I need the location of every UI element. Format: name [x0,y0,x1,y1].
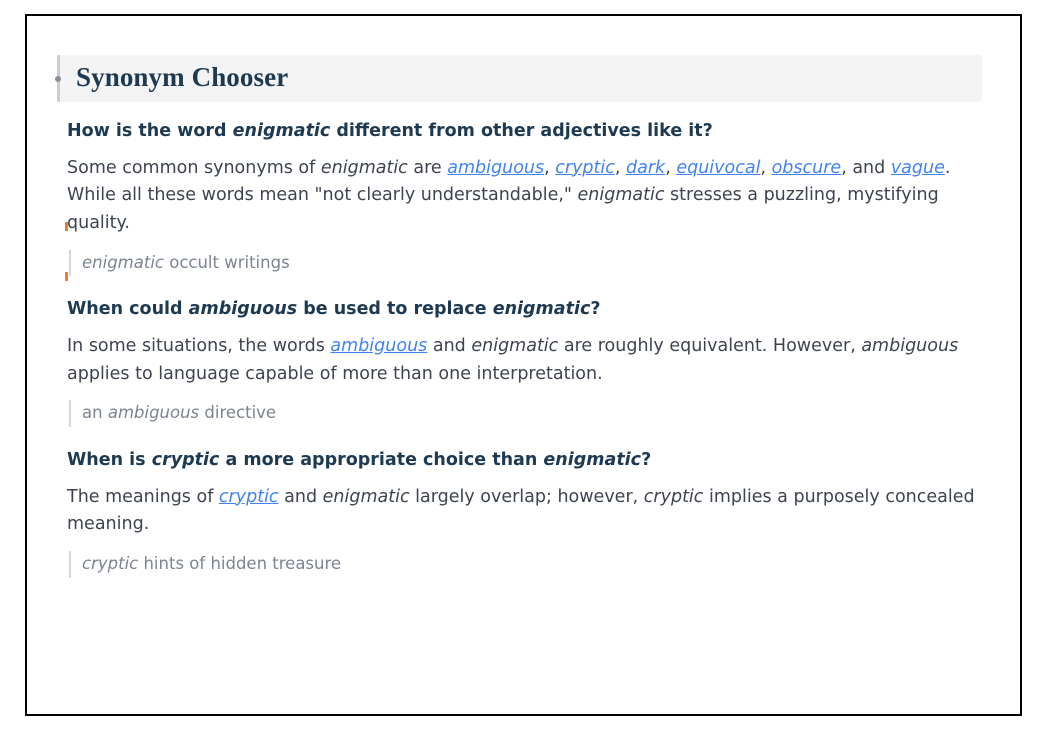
section-question-heading: How is the word enigmatic different from… [67,120,1007,144]
heading-text-before: When is [67,450,152,470]
example-rest: directive [199,403,276,422]
body-headword-1: enigmatic [321,158,408,178]
usage-example: an ambiguous directive [69,400,1007,427]
example-rest: occult writings [164,253,290,272]
comma-sep-2: , [615,158,626,178]
heading-text-before: How is the word [67,121,233,141]
body-text-1: In some situations, the words [67,336,330,356]
synonym-link-vague[interactable]: vague [891,158,945,178]
comma-sep-4: , [760,158,771,178]
example-headword: cryptic [82,554,138,573]
synonym-link-cryptic[interactable]: cryptic [555,158,615,178]
example-headword: ambiguous [108,403,199,422]
section-body-paragraph: Some common synonyms of enigmatic are am… [67,155,987,238]
body-text-2: and [427,336,471,356]
synonym-section: When is cryptic a more appropriate choic… [67,449,1007,578]
body-text-3: largely overlap; however, [410,487,644,507]
body-text-4: applies to language capable of more than… [67,364,603,384]
panel-header: Synonym Chooser [57,55,982,102]
body-emphasis-2: ambiguous [861,336,958,356]
body-text-2: are [408,158,447,178]
example-rest: hints of hidden treasure [138,554,341,573]
example-headword: enigmatic [82,253,164,272]
synonym-link-obscure[interactable]: obscure [772,158,842,178]
body-text-1: Some common synonyms of [67,158,321,178]
body-text-3: , and [841,158,891,178]
body-text-3: are roughly equivalent. However, [558,336,861,356]
section-question-heading: When is cryptic a more appropriate choic… [67,449,1007,473]
heading-headword: enigmatic [233,121,331,141]
body-headword-2: enigmatic [578,185,665,205]
section-question-heading: When could ambiguous be used to replace … [67,298,1007,322]
section-body-paragraph: In some situations, the words ambiguous … [67,333,987,388]
synonym-link-ambiguous[interactable]: ambiguous [330,336,427,356]
heading-text-mid: be used to replace [297,299,493,319]
heading-text-after: different from other adjectives like it? [330,121,712,141]
synonym-link-ambiguous[interactable]: ambiguous [447,158,544,178]
body-text-1: The meanings of [67,487,219,507]
heading-headword-2: enigmatic [543,450,641,470]
heading-headword: ambiguous [189,299,297,319]
section-body-paragraph: The meanings of cryptic and enigmatic la… [67,484,987,539]
usage-example: cryptic hints of hidden treasure [69,551,1007,578]
synonym-link-cryptic[interactable]: cryptic [219,487,279,507]
synonym-section: When could ambiguous be used to replace … [67,298,1007,427]
synonym-link-dark[interactable]: dark [626,158,665,178]
document-page: Synonym Chooser How is the word enigmati… [25,14,1022,716]
body-emphasis-1: enigmatic [323,487,410,507]
heading-headword: cryptic [152,450,220,470]
body-text-2: and [279,487,323,507]
heading-text-mid: a more appropriate choice than [219,450,543,470]
body-emphasis-2: cryptic [644,487,704,507]
heading-text-before: When could [67,299,189,319]
usage-example: enigmatic occult writings [69,250,1007,277]
synonym-section: How is the word enigmatic different from… [67,120,1007,276]
example-before: an [82,403,108,422]
body-emphasis-1: enigmatic [471,336,558,356]
synonym-chooser-content: How is the word enigmatic different from… [67,120,1007,600]
comma-sep-3: , [665,158,676,178]
heading-text-after: ? [590,299,600,319]
comma-sep-1: , [544,158,555,178]
synonym-link-equivocal[interactable]: equivocal [676,158,760,178]
heading-headword-2: enigmatic [493,299,591,319]
panel-title: Synonym Chooser [76,62,288,93]
heading-text-after: ? [641,450,651,470]
header-dot-marker [55,76,61,82]
